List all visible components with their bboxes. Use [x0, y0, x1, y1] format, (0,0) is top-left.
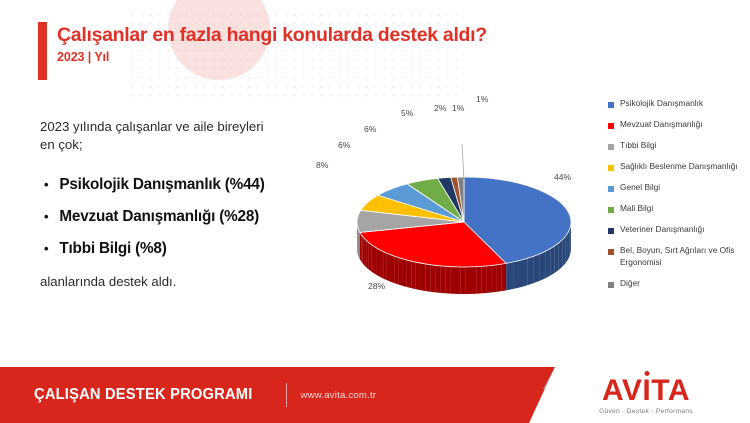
- chart-legend: Psikolojik Danışmanlık Mevzuat Danışmanl…: [608, 98, 744, 299]
- list-item: • Tıbbi Bilgi (%8): [44, 240, 340, 258]
- legend-label: Veteriner Danışmanlığı: [620, 224, 704, 236]
- legend-label: Bel, Boyun, Sırt Ağrıları ve Ofis Ergono…: [620, 245, 744, 268]
- legend-item-genel-bilgi[interactable]: Genel Bilgi: [608, 182, 744, 194]
- list-item: • Psikolojik Danışmanlık (%44): [44, 176, 340, 194]
- legend-item-diger[interactable]: Diğer: [608, 278, 744, 290]
- bullet-dot-icon: •: [44, 178, 48, 191]
- list-item: • Mevzuat Danışmanlığı (%28): [44, 208, 340, 226]
- legend-label: Tıbbi Bilgi: [620, 140, 656, 152]
- legend-item-veteriner-danismanligi[interactable]: Veteriner Danışmanlığı: [608, 224, 744, 236]
- summary-text-block: 2023 yılında çalışanlar ve aile bireyler…: [40, 118, 340, 289]
- footer-website-url[interactable]: www.avita.com.tr: [301, 390, 377, 401]
- pie-label-7: 1%: [452, 103, 464, 113]
- legend-swatch-icon: [608, 228, 614, 234]
- bullet-label: Tıbbi Bilgi (%8): [59, 240, 166, 258]
- pie-label-3: 6%: [338, 140, 350, 150]
- closing-line: alanlarında destek aldı.: [40, 274, 340, 289]
- intro-line-2: en çok;: [40, 136, 340, 154]
- pie-label-5: 5%: [401, 108, 413, 118]
- bullet-dot-icon: •: [44, 242, 48, 255]
- legend-label: Diğer: [620, 278, 640, 290]
- footer-notch-triangle: [529, 367, 555, 423]
- legend-swatch-icon: [608, 186, 614, 192]
- legend-item-psikolojik-danismanlik[interactable]: Psikolojik Danışmanlık: [608, 98, 744, 110]
- pie-label-1: 28%: [368, 281, 385, 291]
- legend-item-saglikli-beslenme-danismanligi[interactable]: Sağlıklı Beslenme Danışmanlığı: [608, 161, 744, 173]
- intro-line-1: 2023 yılında çalışanlar ve aile bireyler…: [40, 118, 340, 136]
- legend-label: Mevzuat Danışmanlığı: [620, 119, 703, 131]
- legend-label: Sağlıklı Beslenme Danışmanlığı: [620, 161, 738, 173]
- legend-swatch-icon: [608, 207, 614, 213]
- logo-letter-a: A: [602, 374, 622, 407]
- legend-label: Psikolojik Danışmanlık: [620, 98, 703, 110]
- legend-swatch-icon: [608, 165, 614, 171]
- logo-letter-v: V: [622, 374, 643, 407]
- pie-chart-svg: [316, 100, 606, 315]
- avita-logo-tagline: Güven · Destek · Performans: [562, 408, 730, 415]
- bullet-label: Mevzuat Danışmanlığı (%28): [59, 208, 259, 226]
- footer: ÇALIŞAN DESTEK PROGRAMI www.avita.com.tr…: [0, 367, 750, 423]
- logo-letter-i: I: [642, 374, 651, 407]
- logo-letter-a2: A: [668, 374, 690, 407]
- page-subtitle: 2023 | Yıl: [57, 50, 487, 64]
- logo-letter-t: T: [651, 374, 668, 407]
- pie-label-4: 6%: [364, 124, 376, 134]
- legend-swatch-icon: [608, 249, 614, 255]
- avita-logo[interactable]: AVITA Güven · Destek · Performans: [562, 376, 730, 415]
- pie-label-8: 1%: [476, 94, 488, 104]
- legend-swatch-icon: [608, 102, 614, 108]
- pie-label-6: 2%: [434, 103, 446, 113]
- bullet-label: Psikolojik Danışmanlık (%44): [59, 176, 264, 194]
- footer-text-group: ÇALIŞAN DESTEK PROGRAMI www.avita.com.tr: [34, 367, 376, 423]
- legend-label: Mali Bilgi: [620, 203, 653, 215]
- legend-item-mevzuat-danismanligi[interactable]: Mevzuat Danışmanlığı: [608, 119, 744, 131]
- pie-label-2: 8%: [316, 160, 328, 170]
- title-accent-bar: [38, 22, 47, 80]
- avita-logo-wordmark: AVITA: [562, 376, 730, 406]
- legend-swatch-icon: [608, 144, 614, 150]
- legend-item-mali-bilgi[interactable]: Mali Bilgi: [608, 203, 744, 215]
- legend-item-bel-boyun-sirt-agrilari[interactable]: Bel, Boyun, Sırt Ağrıları ve Ofis Ergono…: [608, 245, 744, 268]
- legend-swatch-icon: [608, 282, 614, 288]
- footer-divider: [286, 383, 287, 407]
- pie-slices: [357, 177, 571, 267]
- page-title: Çalışanlar en fazla hangi konularda dest…: [57, 24, 487, 47]
- pie-label-0: 44%: [554, 172, 571, 182]
- bullet-dot-icon: •: [44, 210, 48, 223]
- legend-swatch-icon: [608, 123, 614, 129]
- pie-chart: 44% 28% 8% 6% 6% 5% 2% 1% 1%: [316, 100, 606, 315]
- leader-line: [462, 144, 464, 179]
- header: Çalışanlar en fazla hangi konularda dest…: [57, 24, 487, 64]
- highlight-bullet-list: • Psikolojik Danışmanlık (%44) • Mevzuat…: [44, 176, 340, 258]
- legend-label: Genel Bilgi: [620, 182, 660, 194]
- footer-program-title: ÇALIŞAN DESTEK PROGRAMI: [34, 386, 253, 404]
- legend-item-tibbi-bilgi[interactable]: Tıbbi Bilgi: [608, 140, 744, 152]
